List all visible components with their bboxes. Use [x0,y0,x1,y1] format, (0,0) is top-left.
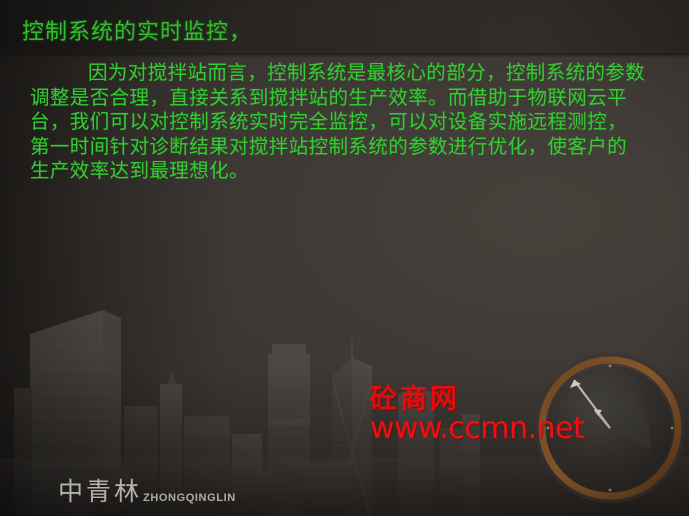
body-line: 第一时间针对诊断结果对搅拌站控制系统的参数进行优化，使客户的 [30,136,660,161]
clock-icon [532,352,688,508]
logo-name-cn: 中青林 [58,479,142,506]
company-logo: 中青林 ZHONGQINGLIN [58,479,236,506]
body-line: 因为对搅拌站而言，控制系统是最核心的部分，控制系统的参数 [30,62,660,87]
presentation-slide: 控制系统的实时监控， 因为对搅拌站而言，控制系统是最核心的部分，控制系统的参数 … [0,0,689,516]
slide-body-text: 因为对搅拌站而言，控制系统是最核心的部分，控制系统的参数 调整是否合理，直接关系… [30,62,660,185]
body-line: 生产效率达到最理想化。 [30,160,660,185]
body-line: 调整是否合理，直接关系到搅拌站的生产效率。而借助于物联网云平 [30,87,660,112]
body-line: 台，我们可以对控制系统实时完全监控，可以对设备实施远程测控， [30,111,660,136]
slide-title: 控制系统的实时监控， [22,17,252,47]
logo-name-en: ZHONGQINGLIN [143,492,236,505]
